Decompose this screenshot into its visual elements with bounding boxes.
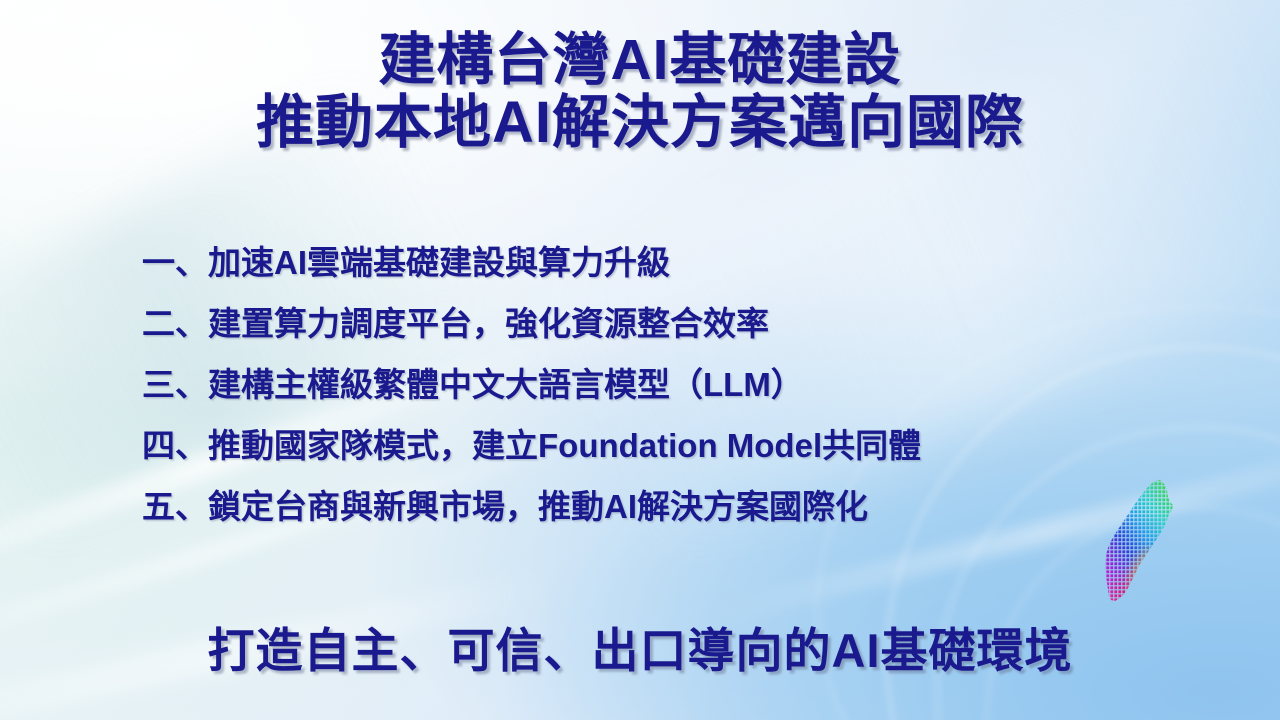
list-item: 三、建構主權級繁體中文大語言模型（LLM） [142,368,921,401]
title-line-2: 推動本地AI解決方案邁向國際 [0,92,1280,155]
list-item: 一、加速AI雲端基礎建設與算力升級 [142,246,921,279]
taiwan-map-svg [1098,478,1194,618]
title-line-1: 建構台灣AI基礎建設 [0,30,1280,92]
taiwan-dotted-map-icon [1098,478,1194,618]
list-item: 五、鎖定台商與新興市場，推動AI解決方案國際化 [142,490,921,523]
list-item: 二、建置算力調度平台，強化資源整合效率 [142,307,921,340]
conclusion-text: 打造自主、可信、出口導向的AI基礎環境 [0,612,1280,681]
numbered-list: 一、加速AI雲端基礎建設與算力升級 二、建置算力調度平台，強化資源整合效率 三、… [142,246,921,551]
conclusion-banner: 打造自主、可信、出口導向的AI基礎環境 [0,612,1280,681]
slide-title: 建構台灣AI基礎建設 推動本地AI解決方案邁向國際 [0,30,1280,154]
list-item: 四、推動國家隊模式，建立Foundation Model共同體 [142,429,921,462]
